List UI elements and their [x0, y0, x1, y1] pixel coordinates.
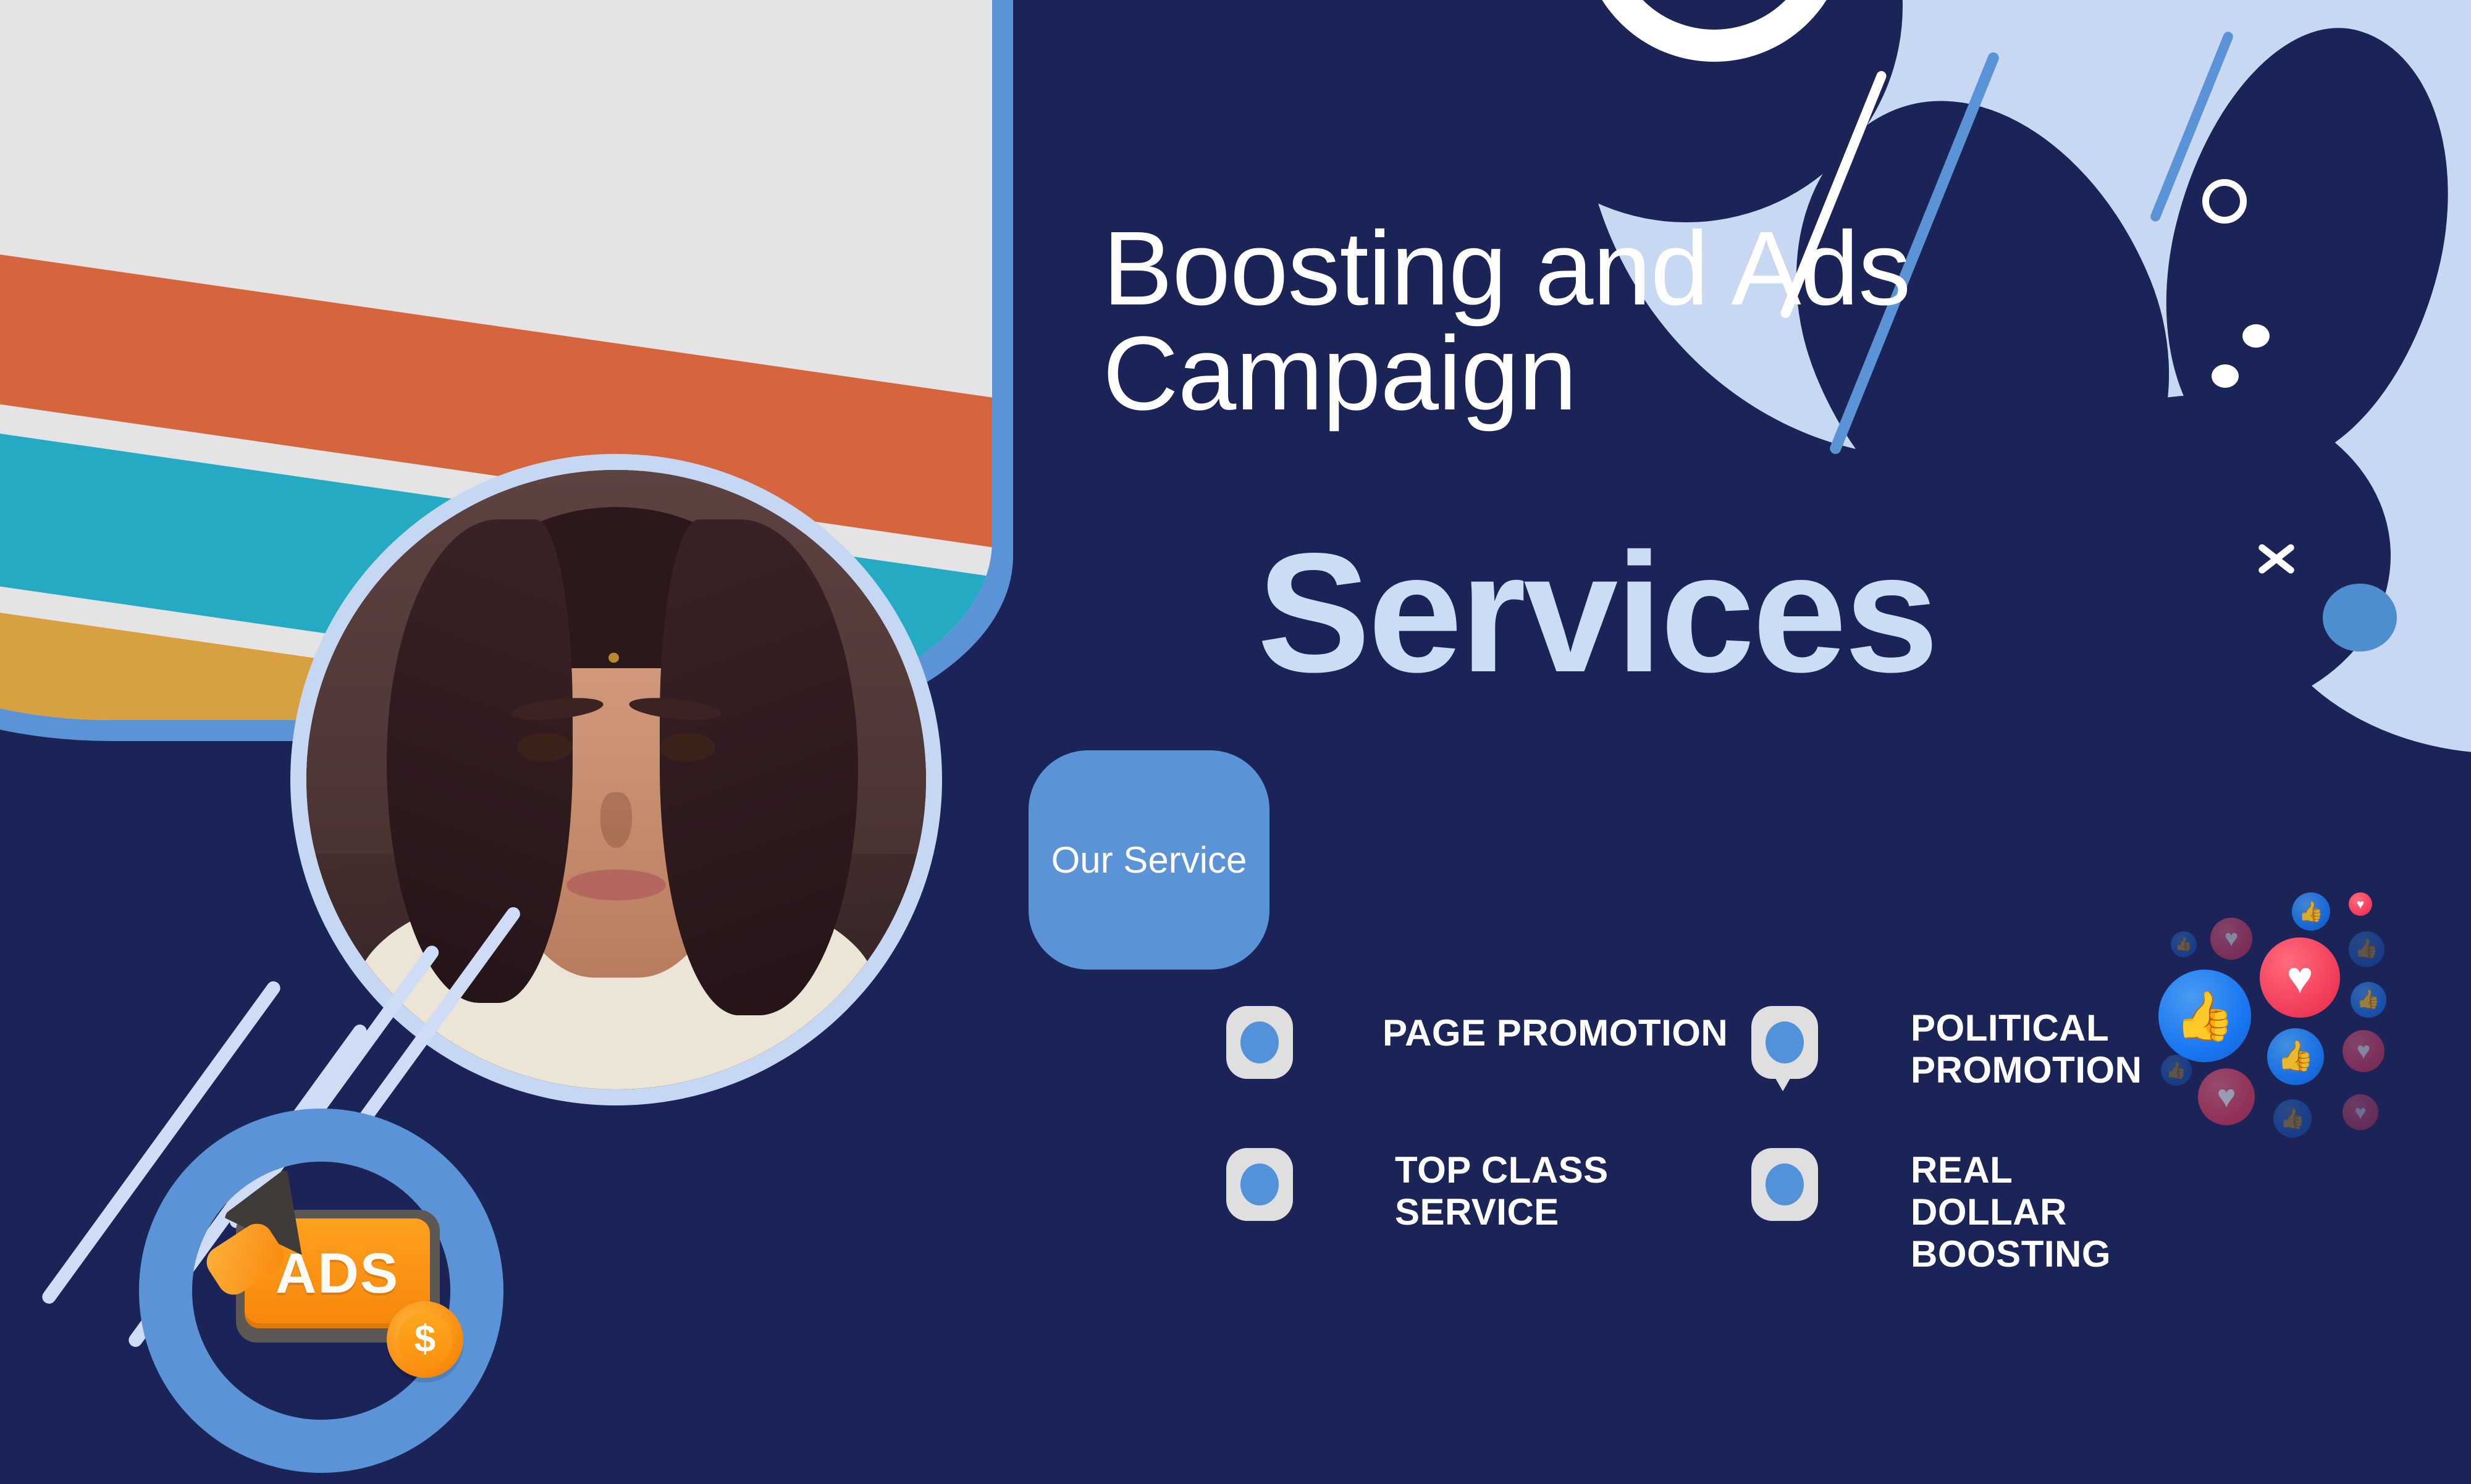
thumbs-up-glyph: 👍: [2277, 1042, 2314, 1071]
thumbs-up-glyph: 👍: [2280, 1109, 2305, 1128]
bullet-circle-icon: [1751, 1148, 1818, 1221]
heart-glyph: ♥: [2286, 955, 2313, 1000]
headline-line-1: Boosting and Ads: [1103, 210, 1910, 327]
reaction-love-icon: ♥: [2343, 1094, 2378, 1130]
reaction-love-icon: ♥: [2210, 918, 2252, 960]
services-heading: Services: [1257, 528, 1937, 698]
service-item-real-dollar-boosting[interactable]: REAL DOLLAR BOOSTING: [1751, 1146, 2122, 1288]
bullet-bubble-icon: [1751, 1006, 1818, 1079]
service-label: REAL DOLLAR BOOSTING: [1911, 1149, 2122, 1275]
thumbs-up-glyph: 👍: [2299, 902, 2323, 921]
reaction-like-icon: 👍: [2161, 1055, 2192, 1086]
reaction-like-icon: 👍: [2349, 931, 2385, 967]
headline-line-2: Campaign: [1103, 321, 2184, 426]
service-label: POLITICAL PROMOTION: [1911, 1007, 2142, 1091]
poster-canvas: BOOST YOUR BR: [0, 0, 2471, 1484]
heart-glyph: ♥: [2355, 1102, 2367, 1122]
reaction-like-icon: 👍: [2171, 931, 2197, 957]
thumbs-up-glyph: 👍: [2175, 937, 2192, 951]
service-item-political-promotion[interactable]: POLITICAL PROMOTION: [1751, 1004, 2122, 1146]
our-service-label: Our Service: [1051, 839, 1247, 881]
reaction-like-icon: 👍: [2267, 1028, 2324, 1085]
thumbs-up-glyph: 👍: [2174, 992, 2234, 1040]
reaction-love-icon: ♥: [2198, 1068, 2255, 1125]
bullet-circle-icon: [1226, 1148, 1293, 1221]
thumbs-up-glyph: 👍: [2166, 1062, 2186, 1078]
service-label: TOP CLASS SERVICE: [1395, 1149, 1609, 1233]
service-label: PAGE PROMOTION: [1383, 1012, 1728, 1054]
reaction-like-icon: 👍: [2351, 982, 2386, 1018]
heart-glyph: ♥: [2357, 898, 2364, 911]
content-column: Boosting and Ads Campaign Services Our S…: [0, 0, 2471, 1484]
reaction-love-icon: ♥: [2349, 892, 2372, 916]
bullet-circle-icon: [1226, 1006, 1293, 1079]
reaction-bubbles-cluster: 👍♥👍♥♥👍👍👍👍♥👍♥👍♥: [2150, 865, 2434, 1124]
reaction-love-icon: ♥: [2343, 1030, 2385, 1072]
reaction-like-icon: 👍: [2273, 1099, 2312, 1138]
heart-glyph: ♥: [2217, 1081, 2236, 1113]
our-service-chip[interactable]: Our Service: [1029, 750, 1269, 970]
heart-glyph: ♥: [2357, 1039, 2371, 1063]
service-item-page-promotion[interactable]: PAGE PROMOTION: [1226, 1004, 1751, 1146]
thumbs-up-glyph: 👍: [2355, 940, 2378, 958]
services-list: PAGE PROMOTION POLITICAL PROMOTION TOP C…: [1226, 1004, 2122, 1288]
page-title: Boosting and Ads Campaign: [1103, 216, 2184, 426]
thumbs-up-glyph: 👍: [2357, 991, 2380, 1009]
reaction-love-icon: ♥: [2260, 937, 2340, 1018]
reaction-like-icon: 👍: [2292, 892, 2330, 931]
service-item-top-class-service[interactable]: TOP CLASS SERVICE: [1226, 1146, 1751, 1288]
reaction-like-icon: 👍: [2158, 970, 2251, 1062]
heart-glyph: ♥: [2225, 927, 2239, 950]
